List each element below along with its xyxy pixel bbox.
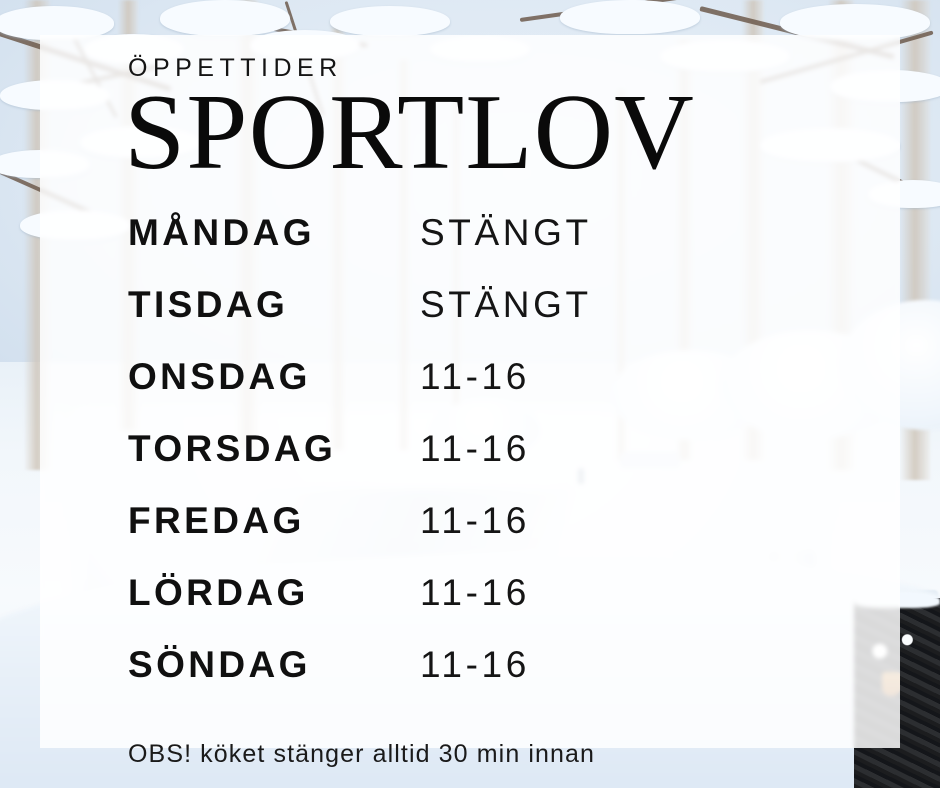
snow-clump [160,0,290,36]
footnote-text: OBS! köket stänger alltid 30 min innan [128,740,595,769]
day-label: SÖNDAG [128,644,420,686]
snow-clump [560,0,700,34]
hours-value: 11-16 [420,572,530,614]
hours-value: 11-16 [420,428,530,470]
table-row: ONSDAG 11-16 [128,341,900,413]
table-row: FREDAG 11-16 [128,485,900,557]
snow-clump [330,6,450,36]
day-label: TORSDAG [128,428,420,470]
hours-value: 11-16 [420,644,530,686]
card-content: ÖPPETTIDER SPORTLOV MÅNDAG STÄNGT TISDAG… [128,35,900,748]
hours-value: 11-16 [420,356,530,398]
day-label: LÖRDAG [128,572,420,614]
poster-canvas: ÖPPETTIDER SPORTLOV MÅNDAG STÄNGT TISDAG… [0,0,940,788]
day-label: FREDAG [128,500,420,542]
hours-value: 11-16 [420,500,530,542]
opening-hours-table: MÅNDAG STÄNGT TISDAG STÄNGT ONSDAG 11-16… [128,197,900,701]
table-row: TISDAG STÄNGT [128,269,900,341]
table-row: LÖRDAG 11-16 [128,557,900,629]
table-row: TORSDAG 11-16 [128,413,900,485]
table-row: MÅNDAG STÄNGT [128,197,900,269]
page-title: SPORTLOV [124,79,695,187]
hours-value: STÄNGT [420,212,592,254]
table-row: SÖNDAG 11-16 [128,629,900,701]
day-label: ONSDAG [128,356,420,398]
day-label: TISDAG [128,284,420,326]
info-card: ÖPPETTIDER SPORTLOV MÅNDAG STÄNGT TISDAG… [40,35,900,748]
hours-value: STÄNGT [420,284,592,326]
day-label: MÅNDAG [128,212,420,254]
